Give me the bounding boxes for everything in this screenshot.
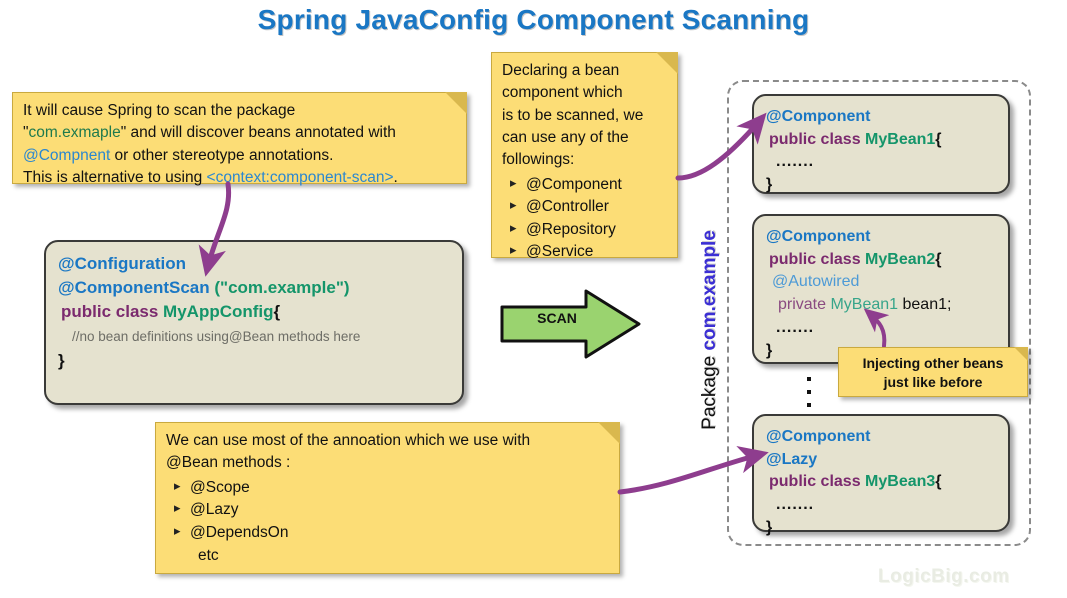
- class-name-mybean3: MyBean3: [865, 473, 935, 490]
- package-label-text: Package com.example: [699, 230, 721, 430]
- logicbig-watermark: LogicBig.com: [878, 566, 1062, 592]
- code-ellipsis: .......: [776, 496, 814, 513]
- list-item: @Component: [510, 174, 667, 197]
- note-corner-fold-icon: [445, 92, 467, 114]
- brace-open: {: [274, 302, 281, 321]
- note-injecting-beans: Injecting other beans just like before: [838, 347, 1028, 397]
- keyword-public-class: public class: [769, 473, 865, 490]
- class-name-mybean2: MyBean2: [865, 251, 935, 268]
- note-scan-line-3-rest: or other stereotype annotations.: [110, 147, 333, 164]
- bean1-line-annotation: @Component: [766, 106, 996, 129]
- field-name-bean1: bean1;: [898, 296, 951, 313]
- annotation-configuration: @Configuration: [58, 254, 186, 273]
- note-scan-explanation: It will cause Spring to scan the package…: [12, 92, 467, 184]
- note-declaring-line-3: is to be scanned, we: [502, 105, 667, 127]
- note-annotations-usable: We can use most of the annoation which w…: [155, 422, 620, 574]
- note-scan-line-4-pre: This is alternative to using: [23, 169, 207, 186]
- code-ellipsis: .......: [776, 319, 814, 336]
- note-inject-line-2: just like before: [845, 373, 1021, 392]
- note-scan-line-4: This is alternative to using <context:co…: [23, 167, 456, 189]
- dot: [807, 377, 811, 381]
- package-label-prefix: Package: [699, 351, 720, 430]
- package-label-name: com.example: [699, 230, 720, 350]
- note-corner-fold-icon: [1014, 347, 1028, 361]
- note-scan-line-2-rest: " and will discover beans annotated with: [121, 124, 396, 141]
- list-item: @Lazy: [174, 499, 609, 522]
- scan-arrow-label: SCAN: [498, 310, 616, 326]
- note-declaring-line-1: Declaring a bean: [502, 60, 667, 82]
- dot: [807, 390, 811, 394]
- bean3-line-dots: .......: [766, 494, 996, 517]
- brace-open: {: [935, 473, 941, 490]
- note-inject-line-1: Injecting other beans: [845, 354, 1021, 373]
- diagram-canvas: Spring JavaConfig Component Scanning It …: [0, 0, 1067, 598]
- brace-open: {: [935, 131, 941, 148]
- list-item: @Scope: [174, 477, 609, 500]
- brace-close: }: [766, 342, 772, 359]
- note-declaring-line-5: followings:: [502, 149, 667, 171]
- config-line-class-decl: public class MyAppConfig{: [58, 300, 450, 324]
- bean3-line-annotation-component: @Component: [766, 426, 996, 449]
- brace-close: }: [766, 519, 772, 536]
- package-label: Package com.example: [695, 205, 725, 455]
- keyword-public-class: public class: [769, 251, 865, 268]
- annotation-component: @Component: [766, 428, 870, 445]
- list-item: @Service: [510, 241, 667, 264]
- bean2-line-class-decl: public class MyBean2{: [766, 249, 996, 272]
- annotation-lazy: @Lazy: [766, 451, 817, 468]
- note-annot-line-2: @Bean methods :: [166, 452, 609, 474]
- xml-tag-component-scan: <context:component-scan>: [207, 169, 394, 186]
- bean2-line-annotation: @Component: [766, 226, 996, 249]
- bean3-line-brace-close: }: [766, 517, 996, 540]
- class-name-mybean1: MyBean1: [865, 131, 935, 148]
- vertical-ellipsis-icon: [804, 377, 814, 417]
- code-box-myappconfig: @Configuration @ComponentScan ("com.exam…: [44, 240, 464, 405]
- note-declaring-bean: Declaring a bean component which is to b…: [491, 52, 678, 258]
- note-scan-line-3: @Compnent or other stereotype annotation…: [23, 145, 456, 167]
- note-annot-list: @Scope @Lazy @DependsOn etc: [166, 477, 609, 568]
- list-item: @DependsOn: [174, 522, 609, 545]
- field-type-mybean1: MyBean1: [830, 296, 898, 313]
- list-item: @Repository: [510, 219, 667, 242]
- annotation-componentscan: @ComponentScan: [58, 278, 214, 297]
- note-declaring-list: @Component @Controller @Repository @Serv…: [502, 174, 667, 265]
- note-annot-line-1: We can use most of the annoation which w…: [166, 430, 609, 452]
- bean2-line-field: private MyBean1 bean1;: [766, 294, 996, 317]
- bean3-line-annotation-lazy: @Lazy: [766, 449, 996, 472]
- bean1-line-brace-close: }: [766, 174, 996, 197]
- note-scan-line-4-post: .: [394, 169, 398, 186]
- list-item-etc: etc: [174, 545, 609, 568]
- note-declaring-line-2: component which: [502, 82, 667, 104]
- annotation-compnent: @Compnent: [23, 147, 110, 164]
- config-line-brace-close: }: [58, 349, 450, 373]
- code-ellipsis: .......: [776, 153, 814, 170]
- code-comment: //no bean definitions using@Bean methods…: [72, 329, 360, 344]
- code-box-mybean1: @Component public class MyBean1{ .......…: [752, 94, 1010, 194]
- note-scan-line-1: It will cause Spring to scan the package: [23, 100, 456, 122]
- bean2-line-dots: .......: [766, 317, 996, 340]
- annotation-autowired: @Autowired: [772, 273, 859, 290]
- dot: [807, 403, 811, 407]
- code-box-mybean3: @Component @Lazy public class MyBean3{ .…: [752, 414, 1010, 532]
- list-item: @Controller: [510, 196, 667, 219]
- brace-close: }: [766, 176, 772, 193]
- note-corner-fold-icon: [656, 52, 678, 74]
- annotation-component: @Component: [766, 228, 870, 245]
- bean3-line-class-decl: public class MyBean3{: [766, 471, 996, 494]
- config-line-configuration: @Configuration: [58, 252, 450, 276]
- keyword-private: private: [778, 296, 830, 313]
- brace-open: {: [935, 251, 941, 268]
- config-line-componentscan: @ComponentScan ("com.example"): [58, 276, 450, 300]
- bean1-line-dots: .......: [766, 151, 996, 174]
- note-scan-line-2: "com.exmaple" and will discover beans an…: [23, 122, 456, 144]
- page-title: Spring JavaConfig Component Scanning: [0, 4, 1067, 36]
- bean2-line-autowired: @Autowired: [766, 271, 996, 294]
- keyword-public-class: public class: [61, 302, 163, 321]
- annotation-component: @Component: [766, 108, 870, 125]
- class-name-myappconfig: MyAppConfig: [163, 302, 273, 321]
- note-declaring-line-4: can use any of the: [502, 127, 667, 149]
- code-box-mybean2: @Component public class MyBean2{ @Autowi…: [752, 214, 1010, 364]
- package-literal: com.exmaple: [29, 124, 121, 141]
- bean1-line-class-decl: public class MyBean1{: [766, 129, 996, 152]
- note-corner-fold-icon: [598, 422, 620, 444]
- brace-close: }: [58, 351, 65, 370]
- componentscan-argument: ("com.example"): [214, 278, 349, 297]
- keyword-public-class: public class: [769, 131, 865, 148]
- config-line-comment: //no bean definitions using@Bean methods…: [58, 324, 450, 348]
